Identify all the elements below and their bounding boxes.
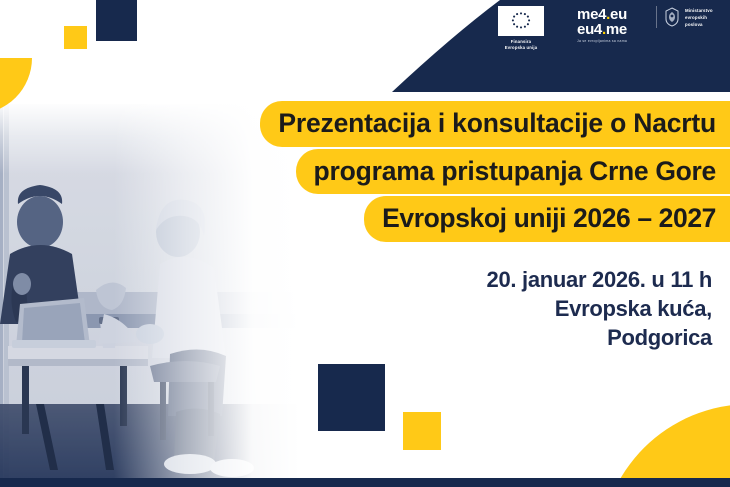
event-details: 20. januar 2026. u 11 h Evropska kuća, P… [487,265,712,352]
ministry-line1: Ministarstvo [685,8,713,13]
ministry-logo-text: Ministarstvo evropskih poslova [685,7,713,28]
montenegro-crest-icon [664,7,680,27]
yellow-square-top [64,26,87,49]
eu-caption-line1: Finansira [511,39,531,44]
ministry-line2: evropskih [685,15,707,20]
headline-line-2: programa pristupanja Crne Gore [296,149,730,195]
me4eu-logo: me4.eu eu4.me Ja se evropljanima sa nama [554,6,650,44]
me4eu-line2-text: eu4.me [577,21,627,38]
ministry-line3: poslova [685,22,703,27]
eu-flag-icon [498,6,544,36]
headline-block: Prezentacija i konsultacije o Nacrtu pro… [0,101,730,244]
eu-caption-line2: Evropska unija [505,45,538,50]
headline-line-3: Evropskoj uniji 2026 – 2027 [364,196,730,242]
event-poster: Finansira Evropska unija me4.eu eu4.me J… [0,0,730,487]
headline-line-2-plain: programa pristupanja [314,156,590,186]
ministry-logo: Ministarstvo evropskih poslova [656,6,730,28]
event-venue: Evropska kuća, [487,294,712,323]
me4eu-line2: eu4.me [577,23,627,38]
yellow-circle-bottom-right [600,404,730,487]
yellow-square-middle [403,412,441,450]
headline-line-1: Prezentacija i konsultacije o Nacrtu [260,101,730,147]
navy-square-middle [318,364,385,431]
logo-row: Finansira Evropska unija me4.eu eu4.me J… [488,6,730,50]
event-city: Podgorica [487,323,712,352]
me4eu-tagline: Ja se evropljanima sa nama [577,39,627,43]
eu-flag-logo: Finansira Evropska unija [488,6,554,50]
headline-line-2-bold: Crne Gore [589,156,716,186]
navy-bottom-bar [0,478,730,487]
navy-square-top [96,0,137,41]
eu-logo-caption: Finansira Evropska unija [505,39,538,50]
event-date: 20. januar 2026. u 11 h [487,265,712,294]
